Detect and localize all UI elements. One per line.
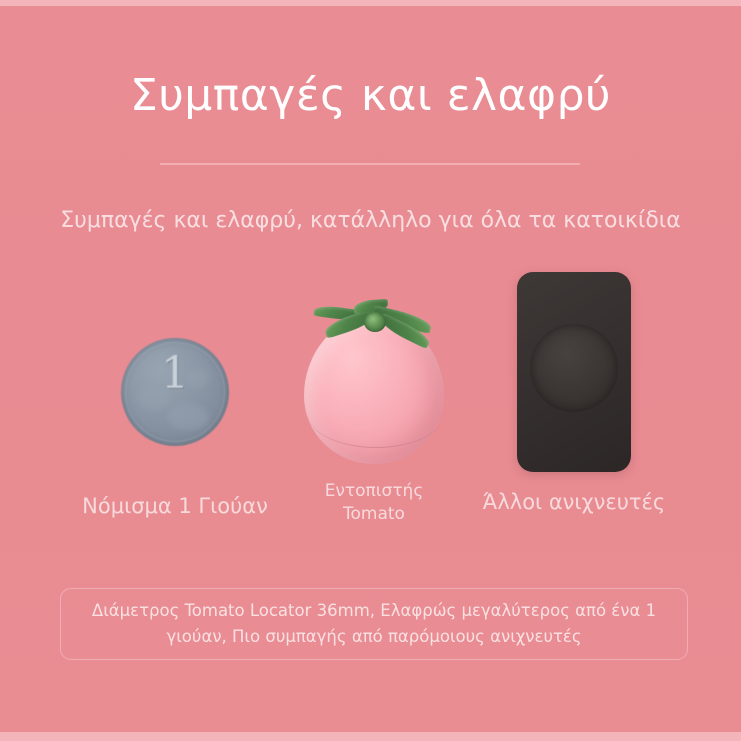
black-tracker-icon — [517, 272, 631, 472]
footnote-text: Διάμετρος Tomato Locator 36mm, Ελαφρώς μ… — [85, 598, 663, 650]
black-tracker-button-bump — [530, 324, 618, 412]
page-subtitle: Συμπαγές και ελαφρύ, κατάλληλο για όλα τ… — [0, 206, 741, 236]
tomato-stem-icon — [364, 312, 386, 332]
coin-denomination-label: 1 — [121, 350, 229, 398]
comparison-caption-tomato-locator: Εντοπιστής Tomato — [274, 480, 474, 526]
comparison-caption-tomato-line2: Tomato — [343, 504, 405, 524]
coin-icon: 1 — [121, 338, 229, 446]
promo-page: Συμπαγές και ελαφρύ Συμπαγές και ελαφρύ,… — [0, 0, 741, 741]
title-divider — [160, 163, 580, 165]
comparison-item-coin: 1 Νόμισμα 1 Γιούαν — [60, 272, 290, 542]
comparison-caption-other-trackers: Άλλοι ανιχνευτές — [460, 488, 688, 516]
comparison-item-tomato-locator: Εντοπιστής Tomato — [274, 272, 474, 542]
comparison-item-other-trackers: Άλλοι ανιχνευτές — [460, 272, 688, 542]
top-edge-strip — [0, 0, 741, 6]
coin-art: 1 — [60, 338, 290, 448]
page-title: Συμπαγές και ελαφρύ — [0, 68, 741, 124]
comparison-row: 1 Νόμισμα 1 Γιούαν — [60, 272, 688, 542]
tomato-locator-art — [274, 294, 474, 474]
tomato-icon — [302, 294, 446, 466]
comparison-caption-tomato-line1: Εντοπιστής — [325, 481, 424, 501]
bottom-edge-strip — [0, 732, 741, 741]
comparison-caption-coin: Νόμισμα 1 Γιούαν — [60, 492, 290, 520]
footnote-box: Διάμετρος Tomato Locator 36mm, Ελαφρώς μ… — [60, 588, 688, 660]
tomato-seam-line — [308, 414, 444, 448]
other-tracker-art — [460, 272, 688, 478]
